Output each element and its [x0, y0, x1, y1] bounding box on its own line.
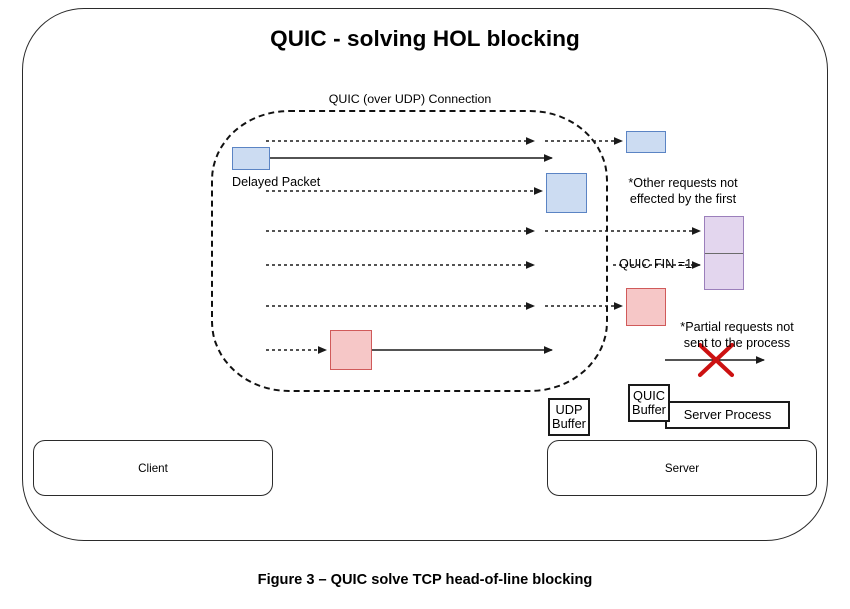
packet-blue-large: [546, 173, 587, 213]
note-other-requests-line2: effected by the first: [613, 192, 753, 208]
quic-fin-label: QUIC FIN =1: [619, 257, 692, 271]
note-partial-requests: *Partial requests not sent to the proces…: [662, 320, 812, 351]
note-partial-requests-line1: *Partial requests not: [662, 320, 812, 336]
packet-purple-divider: [705, 253, 743, 254]
udp-buffer-line1: UDP: [555, 403, 582, 418]
udp-buffer-box: UDP Buffer: [548, 398, 590, 436]
server-process-box: Server Process: [665, 401, 790, 429]
quic-buffer-line2: Buffer: [632, 403, 666, 418]
diagram-canvas: QUIC - solving HOL blocking QUIC (over U…: [0, 0, 850, 609]
server-label: Server: [665, 462, 699, 475]
figure-caption: Figure 3 – QUIC solve TCP head-of-line b…: [0, 572, 850, 588]
packet-delayed-blue: [232, 147, 270, 170]
arrow-layer: [0, 0, 850, 609]
quic-buffer-line1: QUIC: [633, 389, 665, 404]
udp-buffer-line2: Buffer: [552, 417, 586, 432]
server-process-label: Server Process: [684, 408, 771, 423]
note-other-requests: *Other requests not effected by the firs…: [613, 176, 753, 207]
client-endpoint-box: Client: [33, 440, 273, 496]
delayed-packet-label: Delayed Packet: [232, 175, 320, 189]
packet-blue-top-right: [626, 131, 666, 153]
packet-red-lower-left: [330, 330, 372, 370]
packet-red-right: [626, 288, 666, 326]
note-partial-requests-line2: sent to the process: [662, 336, 812, 352]
note-other-requests-line1: *Other requests not: [613, 176, 753, 192]
packet-purple-pair: [704, 216, 744, 290]
client-label: Client: [138, 462, 168, 475]
server-endpoint-box: Server: [547, 440, 817, 496]
quic-buffer-box: QUIC Buffer: [628, 384, 670, 422]
